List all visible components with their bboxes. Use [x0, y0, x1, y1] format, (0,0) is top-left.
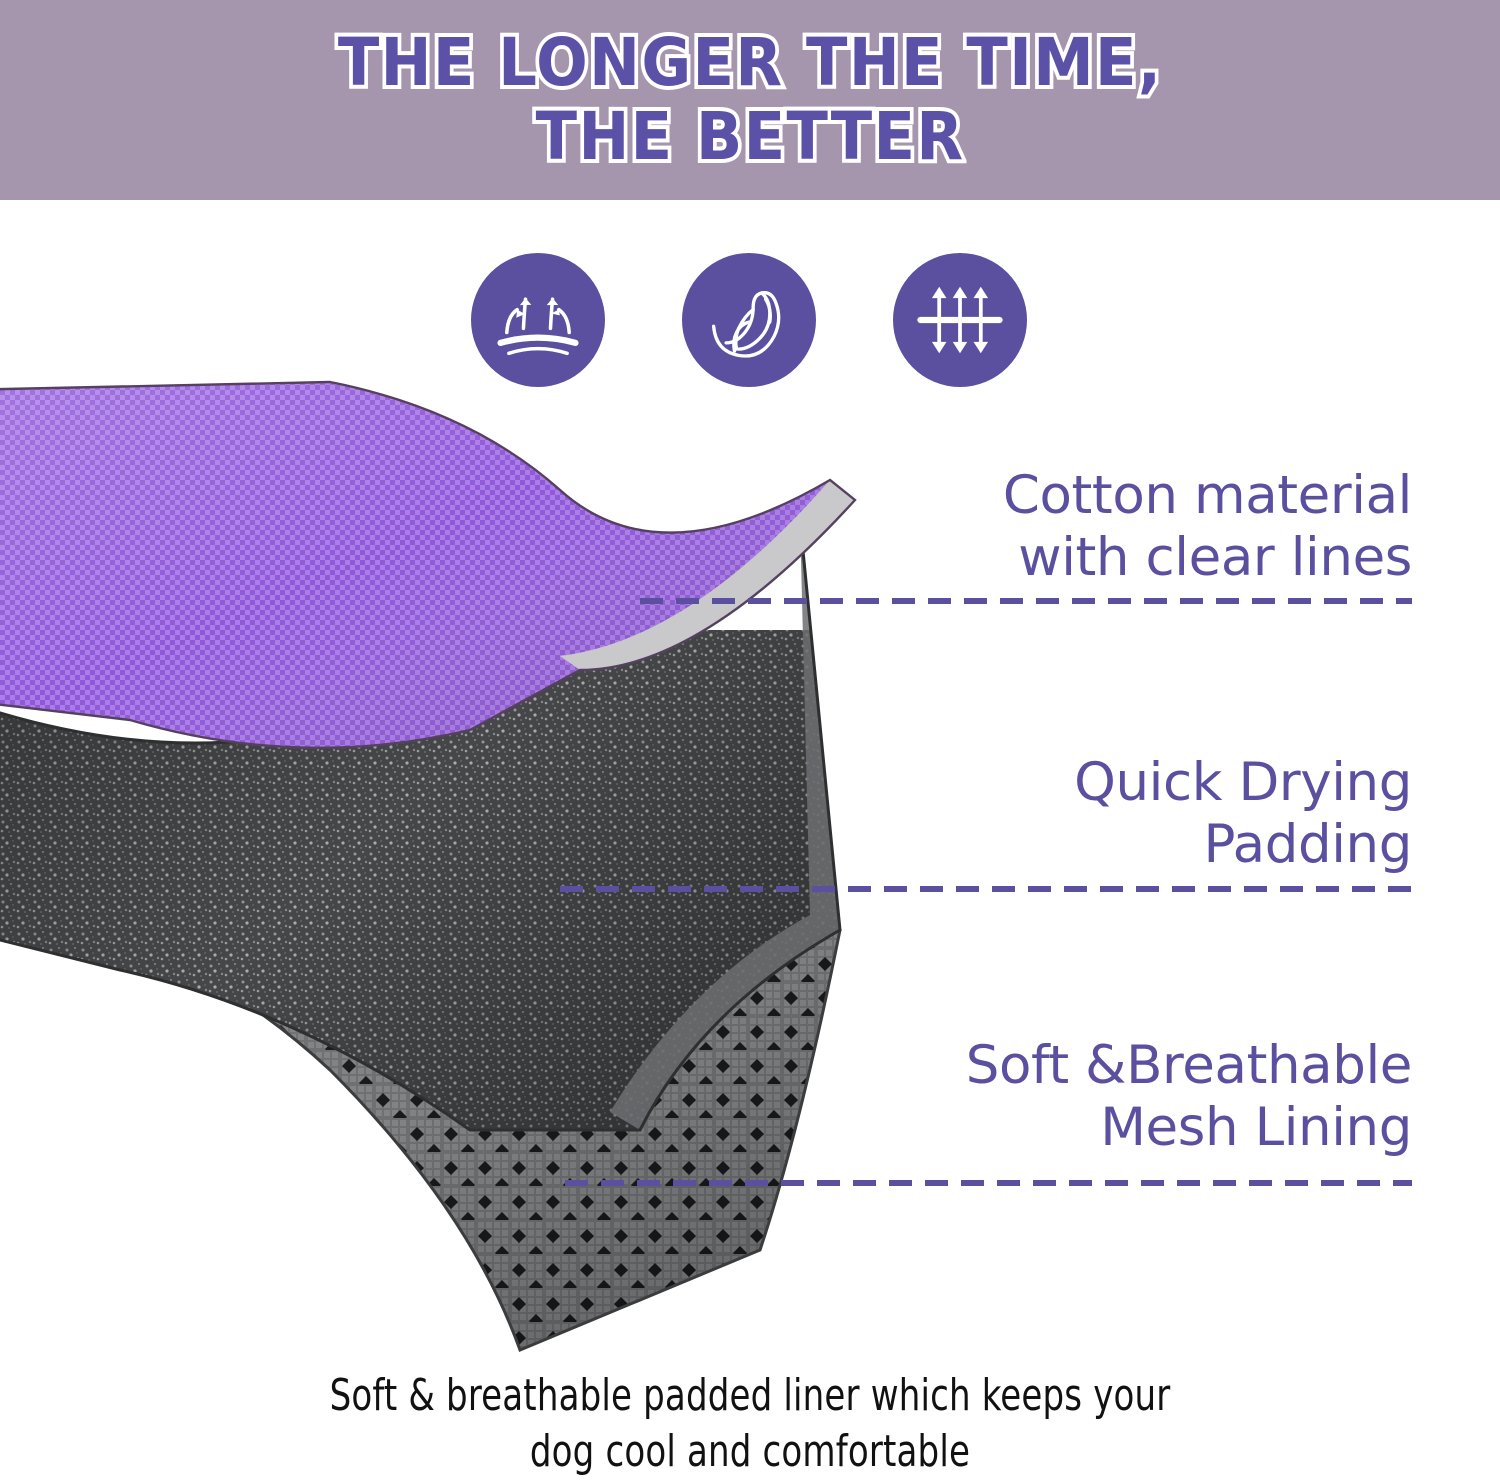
callout-cotton-line-1: Cotton material	[892, 465, 1412, 527]
callout-mesh-lining: Soft &Breathable Mesh Lining	[892, 1035, 1412, 1159]
feature-icon-row	[471, 253, 1027, 387]
moisture-wicking-icon	[471, 253, 605, 387]
bottom-caption-line-2: dog cool and comfortable	[105, 1424, 1395, 1480]
feather-lightweight-icon	[682, 253, 816, 387]
callout-quick-drying-padding: Quick Drying Padding	[892, 752, 1412, 876]
callout-padding-line-1: Quick Drying	[892, 752, 1412, 814]
callout-padding-line-2: Padding	[892, 814, 1412, 876]
headline-line-1: THE LONGER THE TIME,	[338, 27, 1162, 99]
leader-line-padding	[560, 886, 1412, 892]
leader-line-mesh	[565, 1180, 1412, 1186]
air-permeability-icon	[893, 253, 1027, 387]
bottom-caption-line-1: Soft & breathable padded liner which kee…	[105, 1368, 1395, 1424]
leader-line-cotton	[640, 598, 1412, 604]
callout-mesh-line-2: Mesh Lining	[892, 1097, 1412, 1159]
header-banner: THE LONGER THE TIME, THE BETTER	[0, 0, 1500, 200]
callout-mesh-line-1: Soft &Breathable	[892, 1035, 1412, 1097]
headline-line-2: THE BETTER	[536, 101, 965, 173]
callout-cotton-line-2: with clear lines	[892, 527, 1412, 589]
layered-material-illustration	[0, 370, 860, 1370]
callout-cotton-material: Cotton material with clear lines	[892, 465, 1412, 589]
bottom-caption: Soft & breathable padded liner which kee…	[105, 1368, 1395, 1480]
